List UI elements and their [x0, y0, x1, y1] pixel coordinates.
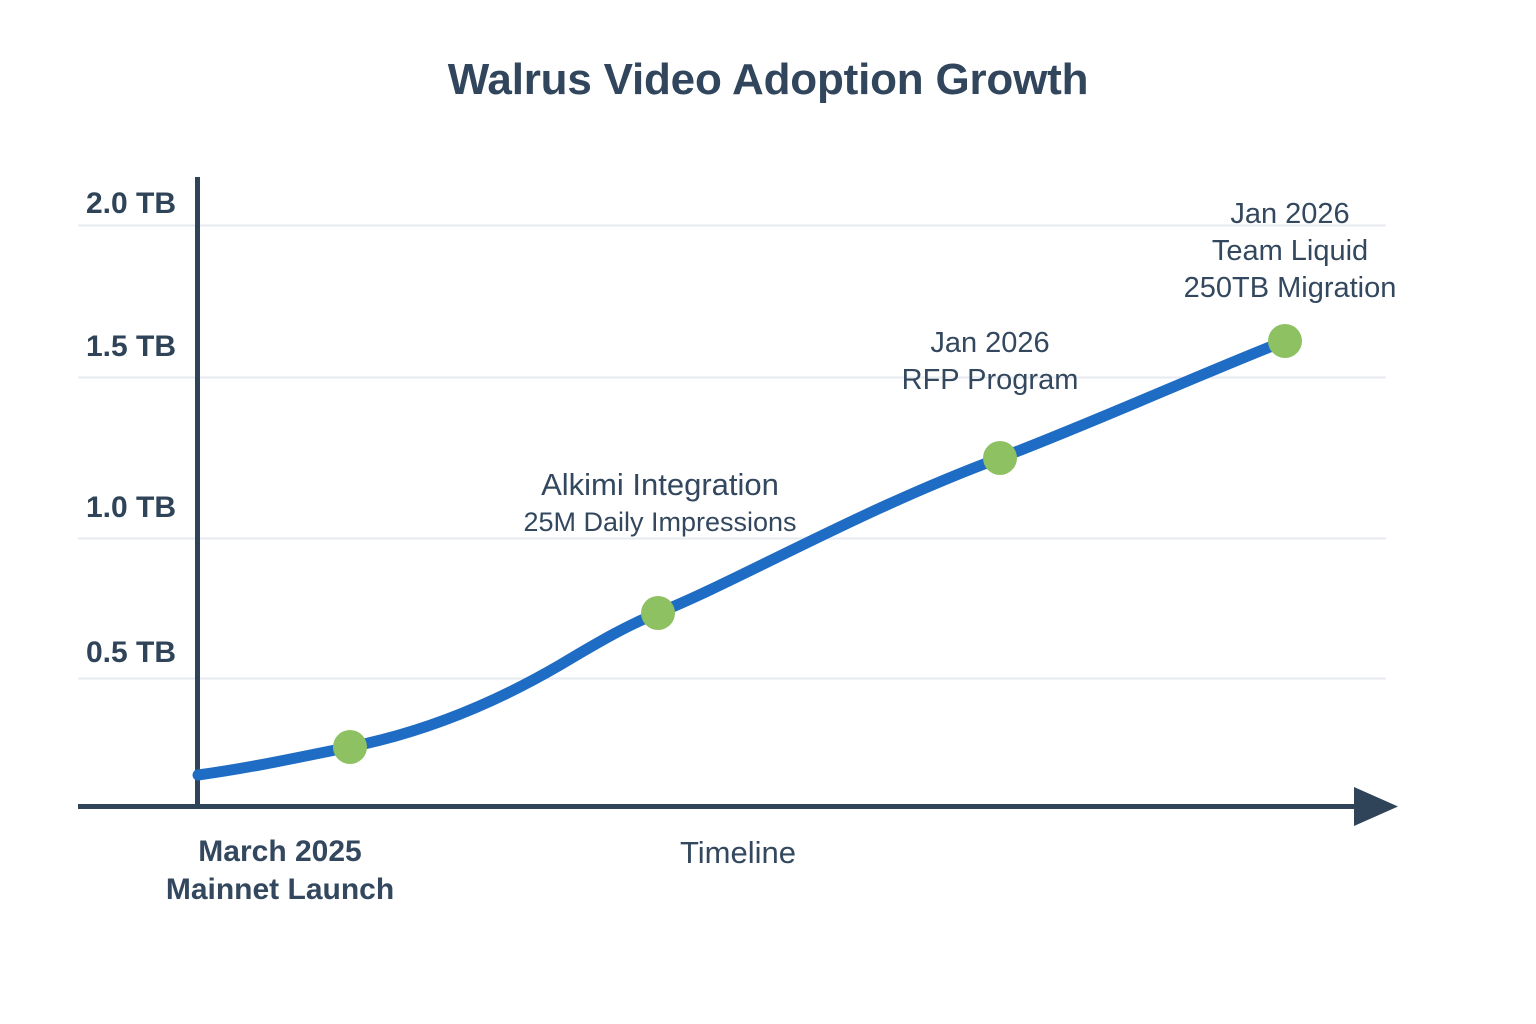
annotation-alkimi-line-1: Alkimi Integration	[370, 465, 950, 505]
annotation-rfp-program: Jan 2026 RFP Program	[790, 325, 1190, 399]
y-axis-tick-2-0tb: 2.0 TB	[0, 187, 176, 221]
annotation-team-liquid-line-2: Team Liquid	[1090, 233, 1490, 270]
data-point-marker-2[interactable]	[641, 596, 675, 630]
series-line-storage-used	[198, 341, 1285, 775]
x-axis-label: Timeline	[680, 835, 796, 871]
annotation-alkimi-integration: Alkimi Integration 25M Daily Impressions	[370, 465, 950, 539]
annotation-rfp-line-2: RFP Program	[790, 362, 1190, 399]
y-axis-tick-1-0tb: 1.0 TB	[0, 491, 176, 525]
annotation-team-liquid-line-1: Jan 2026	[1090, 196, 1490, 233]
annotation-alkimi-line-2: 25M Daily Impressions	[370, 505, 950, 540]
y-axis-tick-0-5tb: 0.5 TB	[0, 636, 176, 670]
annotation-mainnet-launch-line-2: Mainnet Launch	[40, 871, 520, 909]
annotation-team-liquid: Jan 2026 Team Liquid 250TB Migration	[1090, 196, 1490, 307]
data-point-marker-3[interactable]	[983, 441, 1017, 475]
annotation-mainnet-launch-line-1: March 2025	[40, 833, 520, 871]
annotation-rfp-line-1: Jan 2026	[790, 325, 1190, 362]
annotation-team-liquid-line-3: 250TB Migration	[1090, 270, 1490, 307]
data-point-marker-4[interactable]	[1268, 324, 1302, 358]
data-point-marker-1[interactable]	[333, 730, 367, 764]
y-axis-tick-1-5tb: 1.5 TB	[0, 330, 176, 364]
x-axis-arrow-icon	[1354, 787, 1398, 826]
chart-canvas: Walrus Video Adoption Growth 2.0 TB 1.5 …	[0, 0, 1536, 1024]
annotation-mainnet-launch: March 2025 Mainnet Launch	[40, 833, 520, 910]
